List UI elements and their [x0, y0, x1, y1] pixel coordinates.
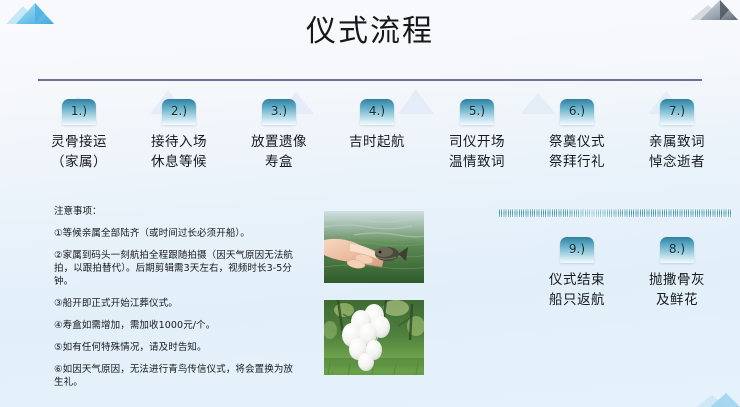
mountain-triangle-icon [696, 391, 740, 407]
step-label-2: 接待入场 休息等候 [133, 132, 225, 172]
note-item: ⑥如因天气原因，无法进行青鸟传信仪式，将会置换为放生礼。 [54, 363, 294, 389]
step-number-1: 1.) [62, 99, 96, 121]
step-badge-1: 1.) [62, 99, 96, 125]
step-label-9: 仪式结束 船只返航 [531, 270, 623, 310]
note-item: ③船开即正式开始江葬仪式。 [54, 297, 294, 310]
step-item-9[interactable]: 9.) 仪式结束 船只返航 [531, 237, 623, 310]
note-item: ⑤如有任何特殊情况，请及时告知。 [54, 341, 294, 354]
notes-heading: 注意事项： [54, 205, 294, 218]
note-item: ④寿盒如需增加，需加收1000元/个。 [54, 319, 294, 332]
step-item-3[interactable]: 3.) 放置遗像 寿盒 [233, 99, 325, 172]
step-item-8[interactable]: 8.) 抛撒骨灰 及鲜花 [631, 237, 723, 310]
step-badge-5: 5.) [460, 99, 494, 125]
step-label-8: 抛撒骨灰 及鲜花 [631, 270, 723, 310]
note-item: ①等候亲属全部陆齐（或时间过长必须开船）。 [54, 227, 294, 240]
note-item: ②家属到码头一刻航拍全程跟随拍摄（因天气原因无法航拍，以跟拍替代）。后期剪辑需3… [54, 249, 294, 288]
step-number-7: 7.) [660, 99, 694, 121]
step-number-9: 9.) [560, 237, 594, 259]
step-number-3: 3.) [262, 99, 296, 121]
step-label-6: 祭奠仪式 祭拜行礼 [531, 132, 623, 172]
step-label-3: 放置遗像 寿盒 [233, 132, 325, 172]
page-title: 仪式流程 [0, 12, 740, 52]
slide-canvas: 仪式流程 1.) 灵骨接运 （家属） 2.) 接待入场 休息等候 3.) 放置遗… [0, 0, 740, 407]
hatched-ribbon-divider [499, 209, 732, 217]
step-badge-8: 8.) [660, 237, 694, 263]
step-item-4[interactable]: 4.) 吉时起航 [331, 99, 423, 152]
title-divider [38, 79, 702, 81]
step-number-4: 4.) [360, 99, 394, 121]
step-label-4: 吉时起航 [331, 132, 423, 152]
step-label-5: 司仪开场 温情致词 [431, 132, 523, 172]
step-number-5: 5.) [460, 99, 494, 121]
photo-fish-release [324, 211, 424, 283]
step-badge-2: 2.) [162, 99, 196, 125]
step-label-7: 亲属致词 悼念逝者 [631, 132, 723, 172]
step-item-5[interactable]: 5.) 司仪开场 温情致词 [431, 99, 523, 172]
step-badge-4: 4.) [360, 99, 394, 125]
step-badge-7: 7.) [660, 99, 694, 125]
step-item-1[interactable]: 1.) 灵骨接运 （家属） [33, 99, 125, 172]
step-item-6[interactable]: 6.) 祭奠仪式 祭拜行礼 [531, 99, 623, 172]
step-number-6: 6.) [560, 99, 594, 121]
step-badge-6: 6.) [560, 99, 594, 125]
step-badge-9: 9.) [560, 237, 594, 263]
step-badge-3: 3.) [262, 99, 296, 125]
photo-white-balloons [324, 300, 424, 375]
step-item-2[interactable]: 2.) 接待入场 休息等候 [133, 99, 225, 172]
notes-panel: 注意事项： ①等候亲属全部陆齐（或时间过长必须开船）。 ②家属到码头一刻航拍全程… [54, 205, 294, 398]
step-label-1: 灵骨接运 （家属） [33, 132, 125, 172]
step-number-8: 8.) [660, 237, 694, 259]
step-number-2: 2.) [162, 99, 196, 121]
step-item-7[interactable]: 7.) 亲属致词 悼念逝者 [631, 99, 723, 172]
